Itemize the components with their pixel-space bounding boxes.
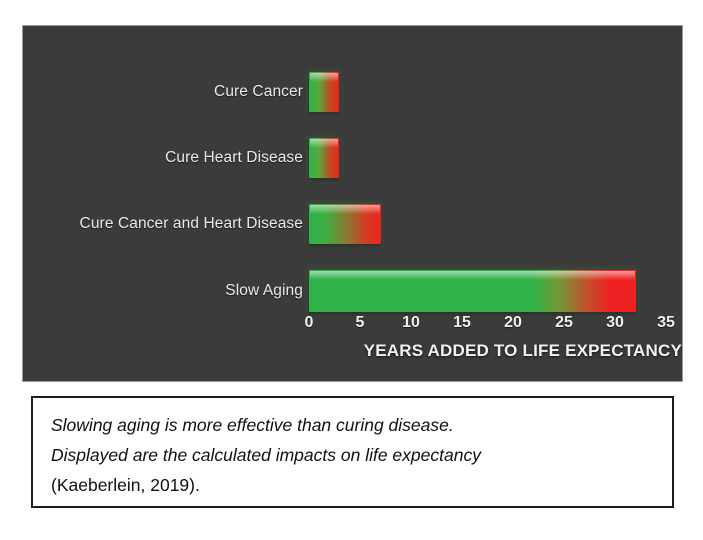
- bar-label-cure-cancer-and-heart-disease: Cure Cancer and Heart Disease: [23, 204, 303, 244]
- bar-row-cure-cancer: Cure Cancer: [23, 72, 682, 112]
- plot-area: Cure Cancer Cure Heart Disease Cure Canc…: [23, 26, 682, 381]
- caption-line-2: Displayed are the calculated impacts on …: [51, 440, 672, 470]
- x-tick-20: 20: [504, 314, 522, 332]
- x-tick-15: 15: [453, 314, 471, 332]
- x-tick-5: 5: [356, 314, 365, 332]
- x-tick-0: 0: [305, 314, 314, 332]
- caption-line-3: (Kaeberlein, 2019).: [51, 470, 672, 500]
- bar-chart-figure: Cure Cancer Cure Heart Disease Cure Canc…: [22, 25, 683, 382]
- caption-box: Slowing aging is more effective than cur…: [31, 396, 674, 508]
- x-tick-30: 30: [606, 314, 624, 332]
- bar-label-cure-heart-disease: Cure Heart Disease: [23, 138, 303, 178]
- bar-cure-cancer: [309, 72, 339, 112]
- x-tick-35: 35: [657, 314, 675, 332]
- bar-row-cure-cancer-and-heart-disease: Cure Cancer and Heart Disease: [23, 204, 682, 244]
- bar-label-slow-aging: Slow Aging: [23, 270, 303, 312]
- page-root: Cure Cancer Cure Heart Disease Cure Canc…: [0, 0, 703, 540]
- bar-row-slow-aging: Slow Aging: [23, 270, 682, 312]
- x-tick-25: 25: [555, 314, 573, 332]
- bar-slow-aging: [309, 270, 636, 312]
- bar-cure-cancer-and-heart-disease: [309, 204, 381, 244]
- bar-cure-heart-disease: [309, 138, 339, 178]
- caption-line-1: Slowing aging is more effective than cur…: [51, 410, 672, 440]
- x-tick-10: 10: [402, 314, 420, 332]
- x-axis-title: YEARS ADDED TO LIFE EXPECTANCY: [23, 341, 682, 361]
- bar-row-cure-heart-disease: Cure Heart Disease: [23, 138, 682, 178]
- bar-label-cure-cancer: Cure Cancer: [23, 72, 303, 112]
